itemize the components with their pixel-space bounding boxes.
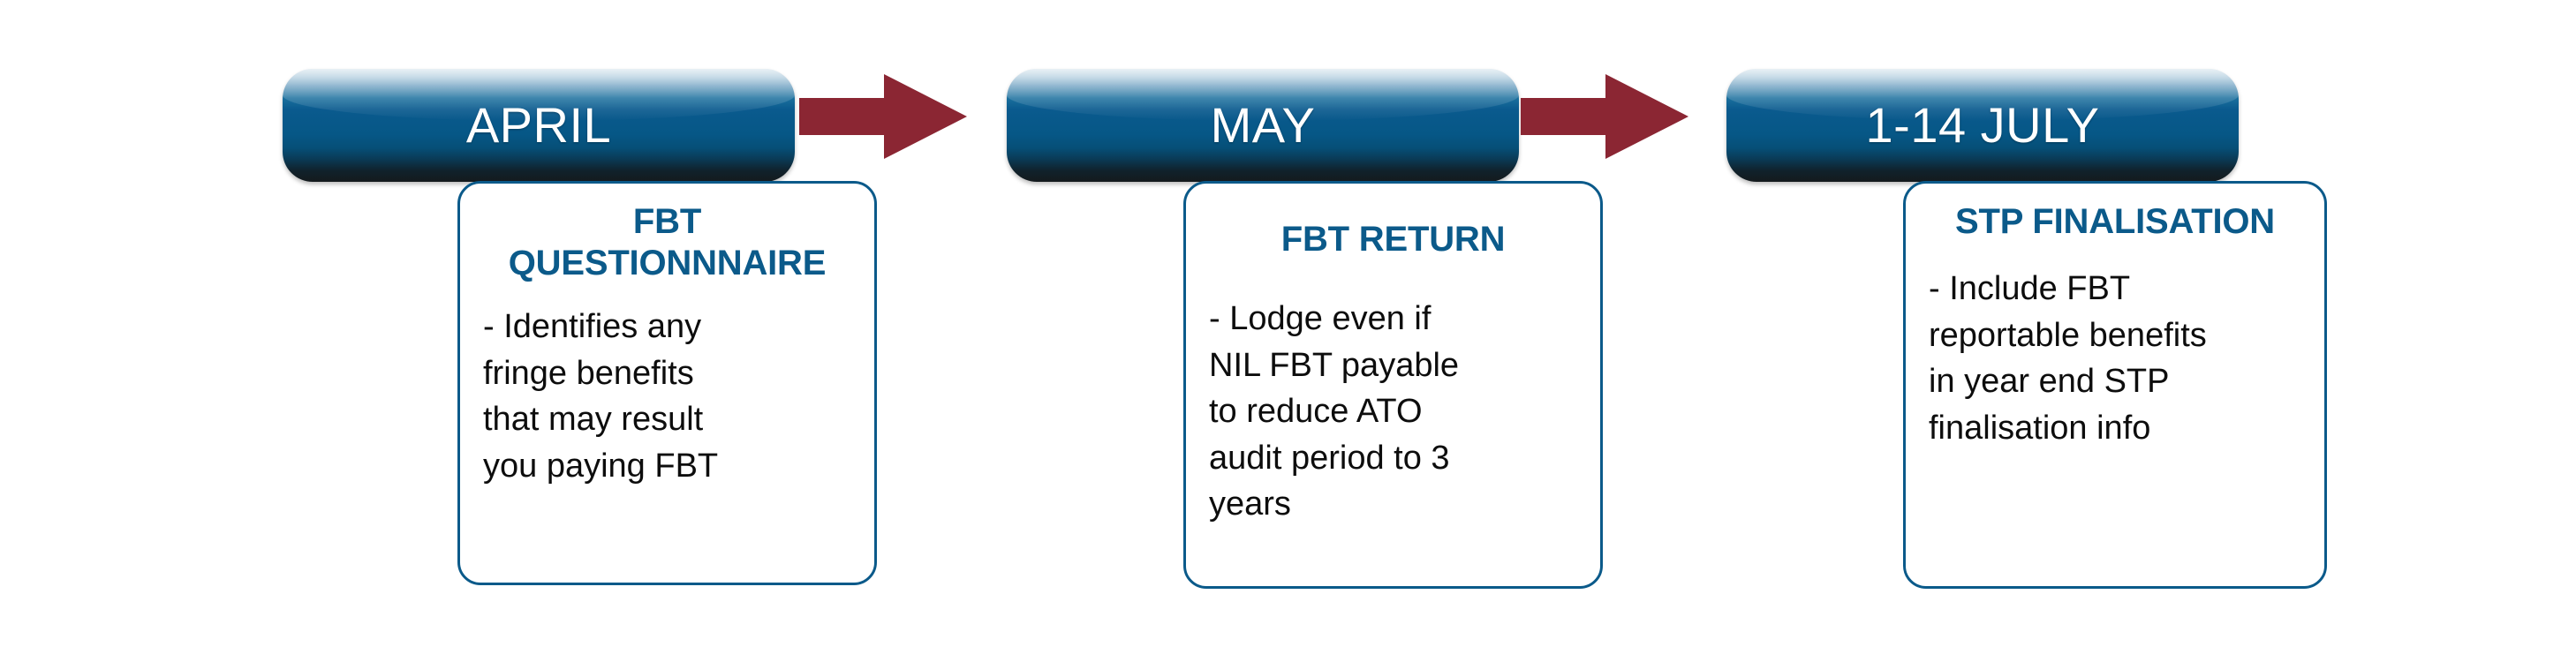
step-pill-may[interactable]: MAY xyxy=(1007,69,1519,182)
step-card-title: FBT RETURN xyxy=(1204,219,1583,260)
step-card-body: - Include FBT reportable benefits in yea… xyxy=(1923,266,2307,451)
step-card-title: FBT QUESTIONNNAIRE xyxy=(478,201,857,284)
timeline-step-july: 1-14 JULY STP FINALISATION - Include FBT… xyxy=(1726,0,2362,662)
step-pill-label: APRIL xyxy=(283,69,795,182)
step-card-may: FBT RETURN - Lodge even if NIL FBT payab… xyxy=(1183,181,1603,589)
step-card-body: - Lodge even if NIL FBT payable to reduc… xyxy=(1204,296,1583,527)
step-card-april: FBT QUESTIONNNAIRE - Identifies any frin… xyxy=(457,181,877,585)
arrow-right-icon xyxy=(1521,74,1688,159)
step-pill-july[interactable]: 1-14 JULY xyxy=(1726,69,2239,182)
step-pill-label: 1-14 JULY xyxy=(1726,69,2239,182)
step-pill-label: MAY xyxy=(1007,69,1519,182)
step-card-july: STP FINALISATION - Include FBT reportabl… xyxy=(1903,181,2327,589)
step-card-body: - Identifies any fringe benefits that ma… xyxy=(478,304,857,489)
fbt-timeline-diagram: APRIL FBT QUESTIONNNAIRE - Identifies an… xyxy=(0,0,2576,662)
step-card-title: STP FINALISATION xyxy=(1923,201,2307,243)
arrow-right-icon xyxy=(799,74,967,159)
step-pill-april[interactable]: APRIL xyxy=(283,69,795,182)
